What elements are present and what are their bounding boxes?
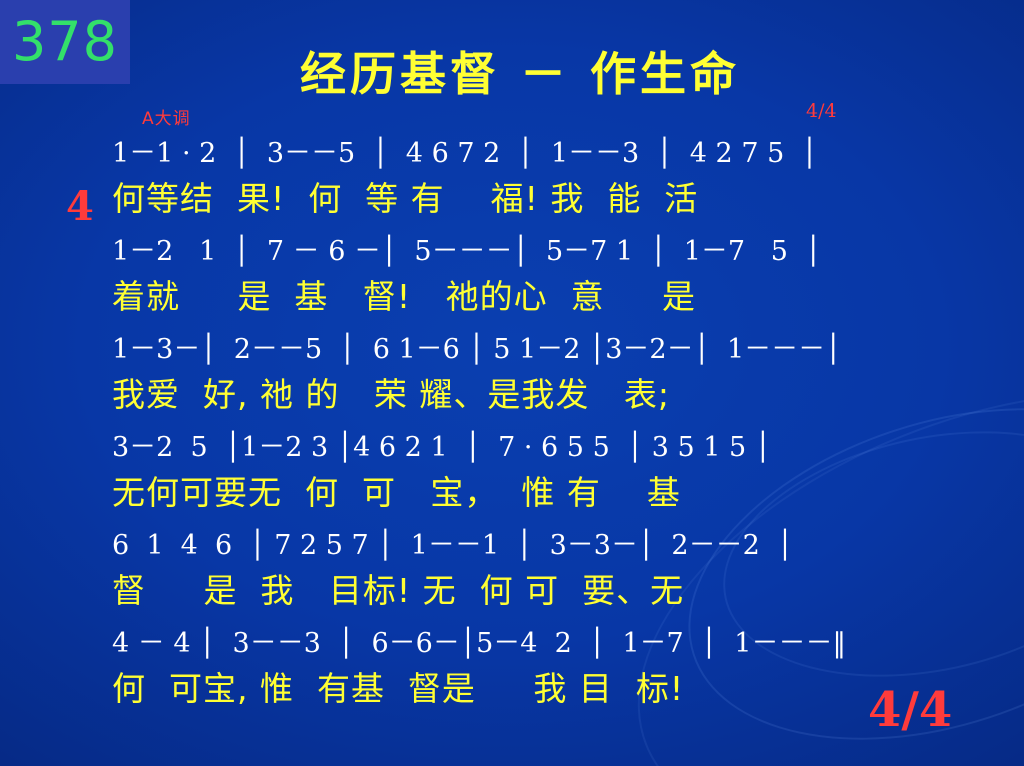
hymn-number: 378 — [12, 15, 118, 69]
page-title: 经历基督 － 作生命 — [150, 38, 890, 104]
lyrics-line: 无何可要无 何 可 宝， 惟 有 基 — [112, 468, 912, 518]
notation-line: 6 1 4 6 │ 7 2 5 7 │ 1－－1 │ 3－3－│ 2－－2 │ — [112, 526, 912, 566]
music-system: 1－1 · 2 │ 3－－5 │ 4 6 7 2 │ 1－－3 │ 4 2 7 … — [112, 134, 912, 232]
music-system: 4 － 4 │ 3－－3 │ 6－6－│5－4 2 │ 1－7 │ 1－－－‖ … — [112, 624, 912, 722]
time-signature-top: 4/4 — [806, 100, 837, 122]
lyrics-line: 何等结 果! 何 等 有 福! 我 能 活 — [112, 174, 912, 224]
notation-line: 1－1 · 2 │ 3－－5 │ 4 6 7 2 │ 1－－3 │ 4 2 7 … — [112, 134, 912, 174]
lyrics-line: 督 是 我 目标! 无 何 可 要、无 — [112, 566, 912, 616]
music-notation-block: 1－1 · 2 │ 3－－5 │ 4 6 7 2 │ 1－－3 │ 4 2 7 … — [112, 134, 912, 722]
notation-line: 3－2 5 │1－2 3 │4 6 2 1 │ 7 · 6 5 5 │ 3 5 … — [112, 428, 912, 468]
music-system: 1－2 1 │ 7 － 6 －│ 5－－－│ 5－7 1 │ 1－7 5 │ 着… — [112, 232, 912, 330]
hymn-number-box: 378 — [0, 0, 130, 84]
lyrics-line: 何 可宝, 惟 有基 督是 我 目 标! — [112, 664, 912, 714]
music-system: 1－3－│ 2－－5 │ 6 1－6 │ 5 1－2 │3－2－│ 1－－－│ … — [112, 330, 912, 428]
notation-line: 1－3－│ 2－－5 │ 6 1－6 │ 5 1－2 │3－2－│ 1－－－│ — [112, 330, 912, 370]
notation-line: 4 － 4 │ 3－－3 │ 6－6－│5－4 2 │ 1－7 │ 1－－－‖ — [112, 624, 912, 664]
slide-canvas: 378 经历基督 － 作生命 A大调 4/4 4 4/4 1－1 · 2 │ 3… — [0, 0, 1024, 766]
notation-line: 1－2 1 │ 7 － 6 －│ 5－－－│ 5－7 1 │ 1－7 5 │ — [112, 232, 912, 272]
lyrics-line: 着就 是 基 督! 祂的心 意 是 — [112, 272, 912, 322]
lyrics-line: 我爱 好, 祂 的 荣 耀、是我发 表; — [112, 370, 912, 420]
beat-marker: 4 — [66, 183, 94, 230]
music-system: 6 1 4 6 │ 7 2 5 7 │ 1－－1 │ 3－3－│ 2－－2 │ … — [112, 526, 912, 624]
music-system: 3－2 5 │1－2 3 │4 6 2 1 │ 7 · 6 5 5 │ 3 5 … — [112, 428, 912, 526]
key-signature-label: A大调 — [142, 104, 191, 129]
